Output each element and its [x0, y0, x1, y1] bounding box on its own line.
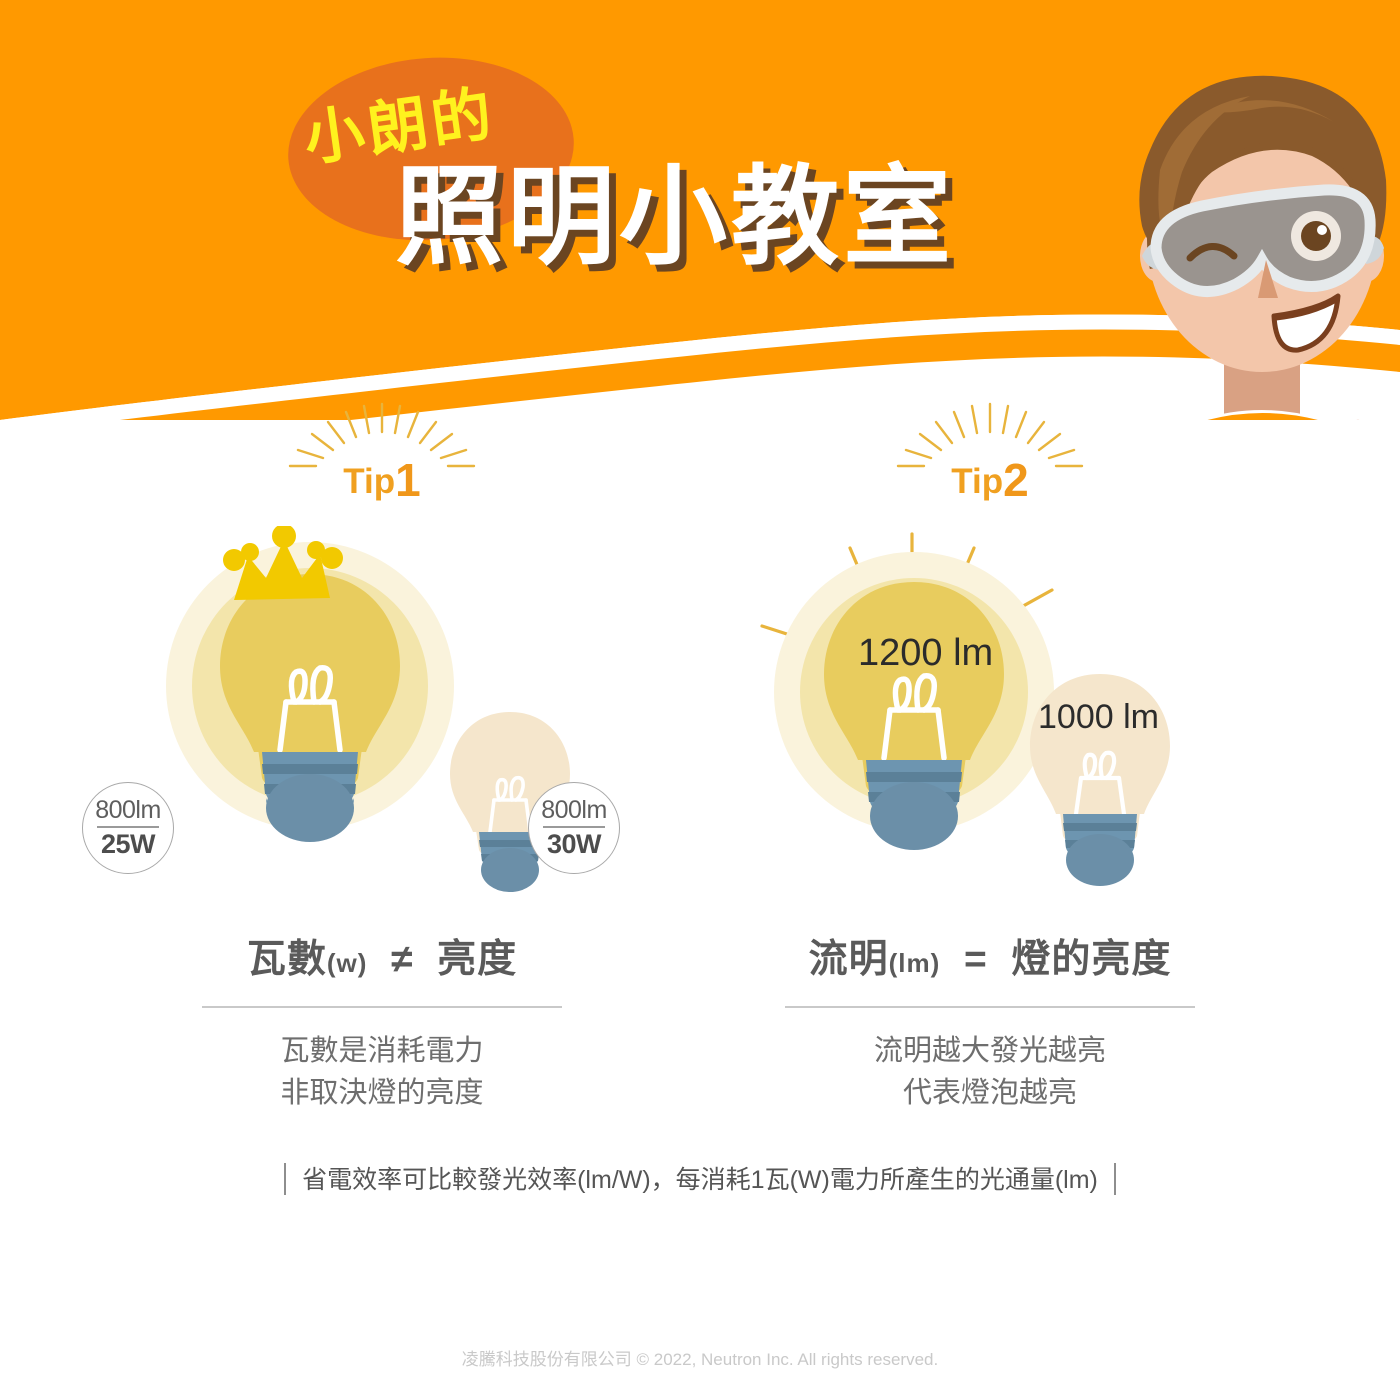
lumens-operator: =	[964, 938, 988, 981]
bright-bulb-crowned-icon	[162, 526, 462, 886]
badge-lumens-value: 800lm	[95, 798, 161, 823]
lumens-result: 燈的亮度	[1011, 938, 1171, 981]
lumens-bulb-illustration: 1200 lm 1000 lm	[690, 520, 1290, 910]
badge-watt-value: 25W	[101, 831, 155, 858]
tip-1-word: Tip	[343, 462, 395, 501]
column-lumens: 1200 lm 1000 lm 流明(lm) = 燈的亮度 流明越大發光越亮 代…	[690, 520, 1290, 1114]
tip-2-number: 2	[1003, 454, 1029, 506]
watts-unit: (w)	[327, 948, 368, 978]
badge-800lm-30w: 800lm 30W	[528, 782, 620, 874]
page-title: 照明小教室	[395, 130, 955, 286]
badge-divider	[97, 826, 159, 827]
lumens-heading: 流明(lm) = 燈的亮度	[690, 928, 1290, 984]
footnote-text: 省電效率可比較發光效率(lm/W)，每消耗1瓦(W)電力所產生的光通量(lm)	[302, 1166, 1098, 1194]
watts-description: 瓦數是消耗電力 非取決燈的亮度	[82, 1030, 682, 1114]
lumens-description-line-1: 流明越大發光越亮	[690, 1030, 1290, 1072]
watts-heading: 瓦數(w) ≠ 亮度	[82, 928, 682, 984]
watts-description-line-2: 非取決燈的亮度	[82, 1072, 682, 1114]
footnote: 省電效率可比較發光效率(lm/W)，每消耗1瓦(W)電力所產生的光通量(lm)	[0, 1160, 1400, 1196]
column-watts: 800lm 25W 800lm 30W 瓦數(w) ≠ 亮度 瓦數是消耗電力 非…	[82, 520, 682, 1114]
watts-bulb-illustration: 800lm 25W 800lm 30W	[82, 520, 682, 910]
watts-term: 瓦數	[247, 938, 327, 981]
lumens-value-1200: 1200 lm	[858, 632, 993, 675]
lumens-divider	[785, 1006, 1195, 1008]
tip-2-label: Tip2	[860, 453, 1120, 507]
lumens-term: 流明	[809, 938, 889, 981]
lumens-description-line-2: 代表燈泡越亮	[690, 1072, 1290, 1114]
tip-1-number: 1	[395, 454, 421, 506]
lumens-value-1000: 1000 lm	[1038, 698, 1159, 737]
tip-2-word: Tip	[951, 462, 1003, 501]
header-banner: 小朗的 照明小教室	[0, 0, 1400, 420]
watts-operator: ≠	[391, 938, 413, 981]
lumens-description: 流明越大發光越亮 代表燈泡越亮	[690, 1030, 1290, 1114]
mascot-boy-illustration	[1112, 60, 1400, 420]
footnote-bar-right	[1114, 1163, 1116, 1195]
badge-800lm-25w: 800lm 25W	[82, 782, 174, 874]
badge-divider	[543, 826, 605, 827]
infographic-page: 小朗的 照明小教室	[0, 0, 1400, 1400]
watts-result: 亮度	[437, 938, 517, 981]
badge-lumens-value: 800lm	[541, 798, 607, 823]
footnote-bar-left	[284, 1163, 286, 1195]
tip-1-label: Tip1	[252, 453, 512, 507]
lumens-unit: (lm)	[889, 948, 941, 978]
badge-watt-value: 30W	[547, 831, 601, 858]
copyright-footer: 凌騰科技股份有限公司 © 2022, Neutron Inc. All righ…	[0, 1345, 1400, 1370]
watts-divider	[202, 1006, 562, 1008]
watts-description-line-1: 瓦數是消耗電力	[82, 1030, 682, 1072]
